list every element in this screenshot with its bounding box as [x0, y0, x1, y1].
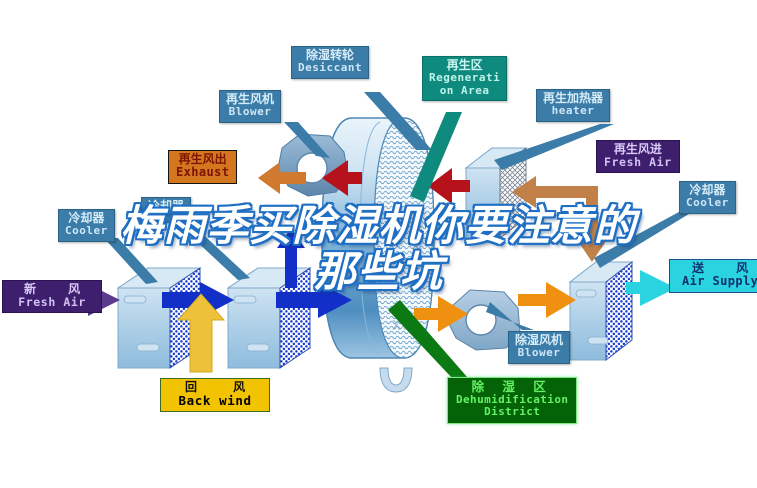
label-cooler-left-cn: 冷却器 — [65, 212, 108, 225]
label-desiccant-rotor-cn: 除湿转轮 — [298, 49, 362, 62]
label-regen-fresh-air-en: Fresh Air — [604, 156, 672, 169]
label-back-wind-cn: 回 风 — [169, 381, 261, 394]
label-cooler-left-upper-cn: 冷却器 — [148, 200, 184, 213]
label-regeneration-area-en1: Regenerati — [429, 72, 500, 84]
label-regeneration-area[interactable]: 再生区 Regenerati on Area — [422, 56, 507, 101]
label-fresh-air-cn: 新 风 — [10, 283, 94, 296]
label-dehumidification-district-cn: 除 湿 区 — [456, 380, 568, 394]
label-back-wind-en: Back wind — [169, 394, 261, 408]
label-back-wind[interactable]: 回 风 Back wind — [160, 378, 270, 412]
rotor-drip-tray — [380, 368, 412, 392]
label-fresh-air[interactable]: 新 风 Fresh Air — [2, 280, 102, 313]
label-desiccant-rotor-en: Desiccant — [298, 62, 362, 74]
label-cooler-right-cn: 冷却器 — [686, 184, 729, 197]
diagram-canvas: XT — [0, 0, 757, 488]
arrow-blower-to-cooler — [518, 282, 576, 318]
label-regen-fresh-air[interactable]: 再生风进 Fresh Air — [596, 140, 680, 173]
label-regen-blower[interactable]: 再生风机 Blower — [219, 90, 281, 123]
label-cooler-left-upper[interactable]: 冷却器 — [141, 197, 191, 223]
dehumidifier-schematic: XT — [0, 0, 757, 488]
label-fresh-air-en: Fresh Air — [10, 296, 94, 309]
label-air-supply-cn: 送 风 — [678, 262, 757, 275]
label-regen-blower-en: Blower — [226, 106, 274, 118]
label-cooler-right-en: Cooler — [686, 197, 729, 209]
cooler-unit-left-2 — [228, 268, 310, 368]
label-regen-heater-en: heater — [543, 105, 603, 117]
arrow-regen-fresh-air-intake-up — [576, 196, 608, 262]
label-cooler-left-en: Cooler — [65, 225, 108, 237]
label-dehum-blower[interactable]: 除湿风机 Blower — [508, 331, 570, 364]
cooler-unit-right — [570, 262, 632, 360]
label-cooler-left[interactable]: 冷却器 Cooler — [58, 209, 115, 242]
label-dehum-blower-cn: 除湿风机 — [515, 334, 563, 347]
label-dehumidification-district-en2: District — [456, 406, 568, 418]
label-cooler-right[interactable]: 冷却器 Cooler — [679, 181, 736, 214]
label-exhaust[interactable]: 再生风出 Exhaust — [168, 150, 237, 184]
label-dehumidification-district[interactable]: 除 湿 区 Dehumidification District — [447, 377, 577, 424]
label-exhaust-en: Exhaust — [176, 166, 229, 179]
label-regeneration-area-en2: on Area — [429, 85, 500, 97]
label-exhaust-cn: 再生风出 — [176, 153, 229, 166]
label-dehum-blower-en: Blower — [515, 347, 563, 359]
label-regen-heater[interactable]: 再生加热器 heater — [536, 89, 610, 122]
label-desiccant-rotor[interactable]: 除湿转轮 Desiccant — [291, 46, 369, 79]
label-regen-blower-cn: 再生风机 — [226, 93, 274, 106]
label-regen-fresh-air-cn: 再生风进 — [604, 143, 672, 156]
label-regen-heater-cn: 再生加热器 — [543, 92, 603, 105]
label-regeneration-area-cn: 再生区 — [429, 59, 500, 72]
label-air-supply[interactable]: 送 风 Air Supply — [669, 259, 757, 293]
label-air-supply-en: Air Supply — [678, 275, 757, 288]
